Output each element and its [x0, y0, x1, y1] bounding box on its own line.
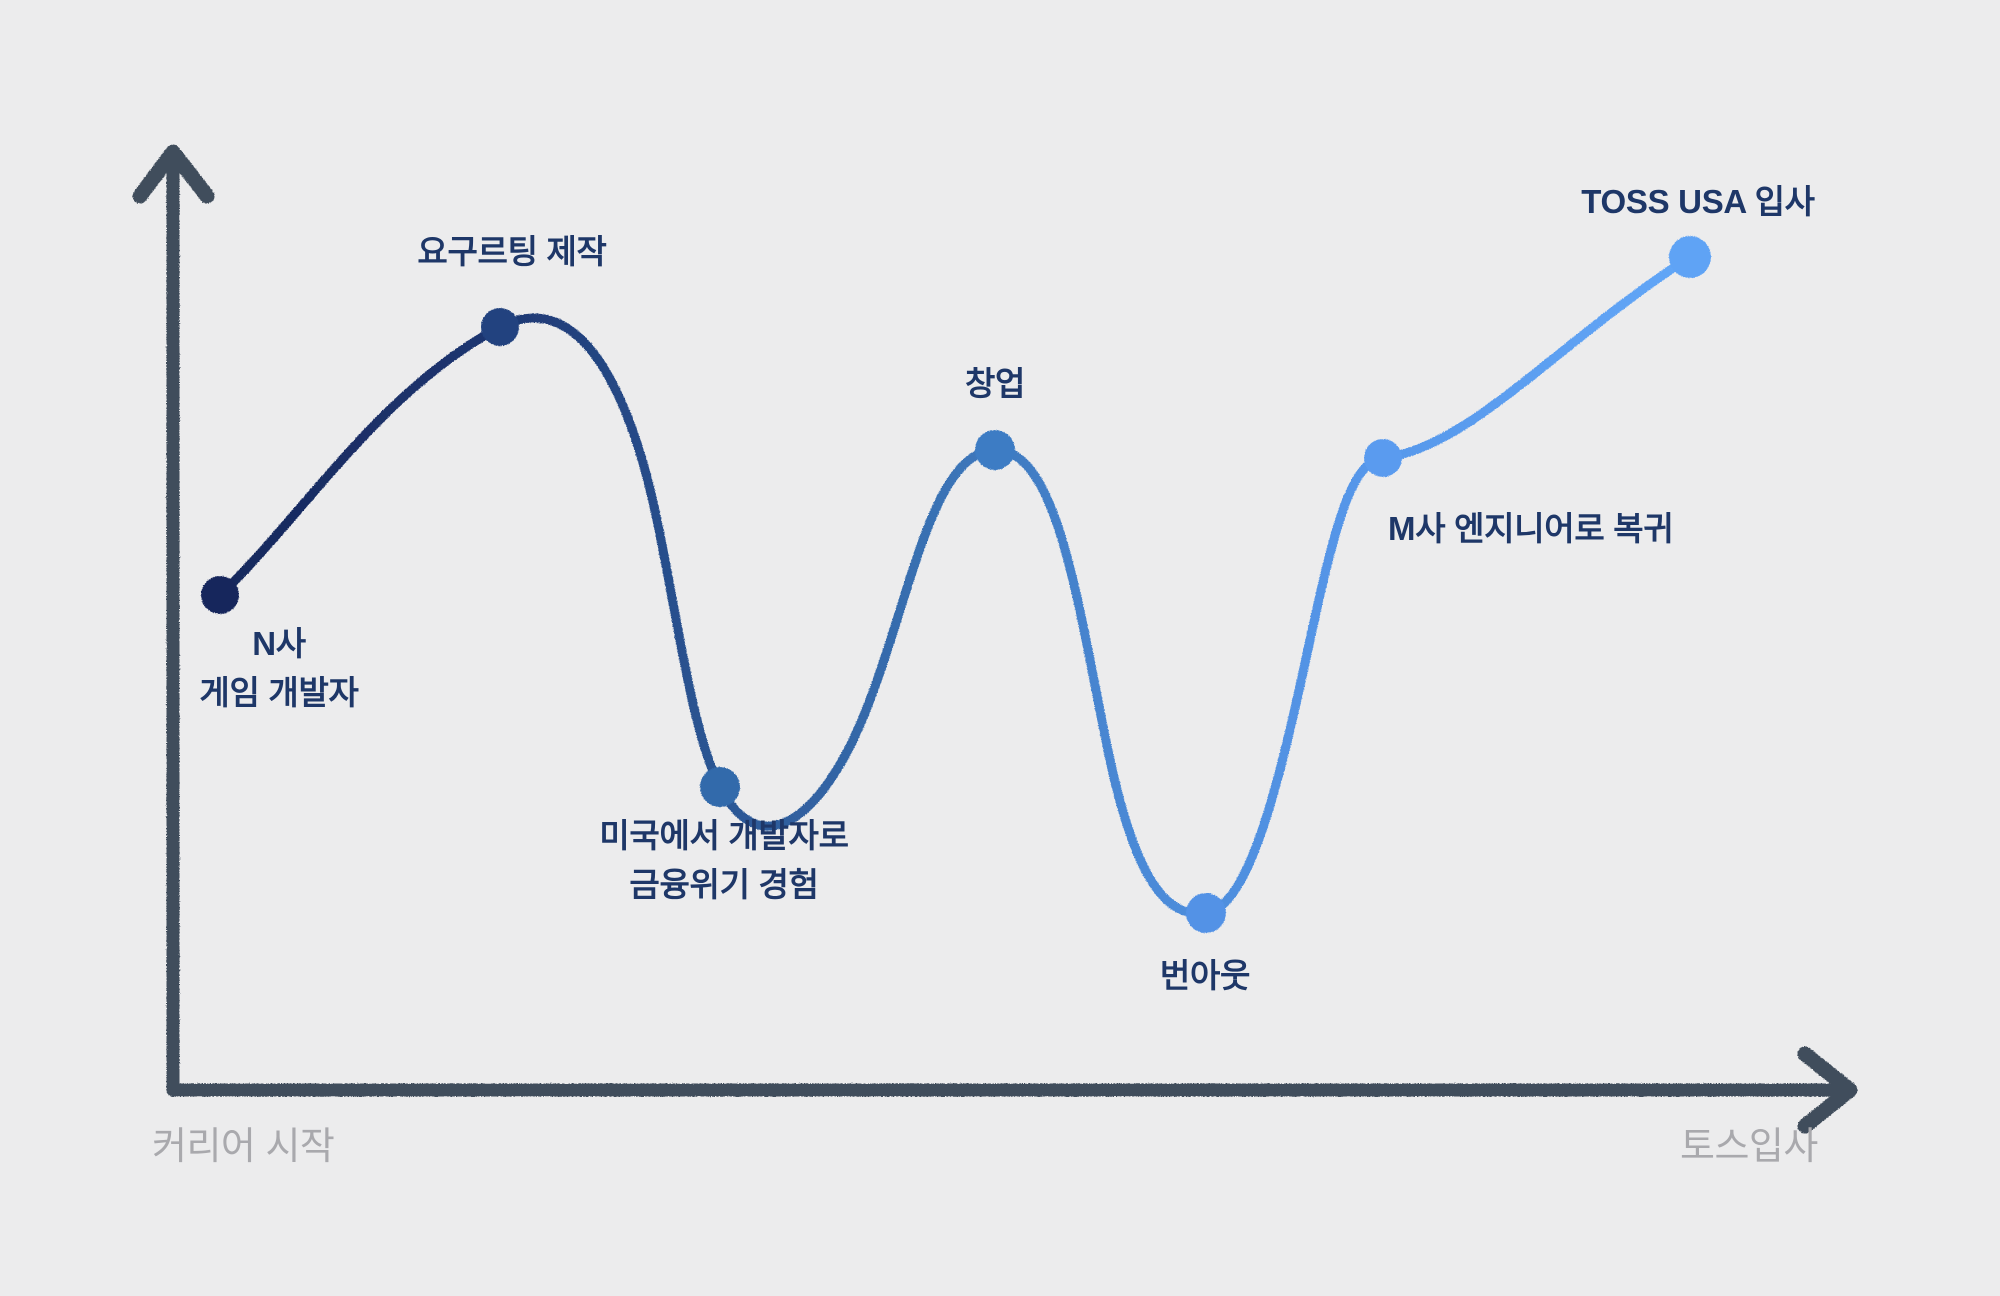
milestone-dot-5[interactable]	[1186, 893, 1226, 933]
milestone-label-7-line-1: TOSS USA 입사	[1581, 178, 1814, 227]
milestone-label-4: 창업	[965, 360, 1025, 409]
milestone-label-5: 번아웃	[1160, 952, 1250, 1001]
milestone-label-1-line-2: 게임 개발자	[199, 669, 358, 718]
vertical-growth-axis	[140, 152, 207, 1090]
milestone-label-7: TOSS USA 입사	[1581, 178, 1814, 227]
milestone-dots	[201, 236, 1711, 933]
milestone-dot-1[interactable]	[201, 576, 239, 614]
milestone-dot-4[interactable]	[975, 430, 1015, 470]
milestone-label-6: M사 엔지니어로 복귀	[1388, 505, 1673, 554]
axis-start-label: 커리어 시작	[152, 1115, 334, 1170]
milestone-label-2-line-1: 요구르팅 제작	[417, 228, 606, 277]
career-timeline-axis	[173, 1054, 1850, 1126]
career-curve	[220, 257, 1690, 914]
milestone-label-1: N사 게임 개발자	[199, 620, 358, 718]
milestone-dot-2[interactable]	[481, 308, 519, 346]
milestone-dot-3[interactable]	[700, 767, 740, 807]
milestone-label-5-line-1: 번아웃	[1160, 952, 1250, 1001]
milestone-label-3-line-1: 미국에서 개발자로	[599, 812, 848, 861]
milestone-label-4-line-1: 창업	[965, 360, 1025, 409]
milestone-label-2: 요구르팅 제작	[417, 228, 606, 277]
milestone-label-1-line-1: N사	[199, 620, 358, 669]
milestone-label-6-line-1: M사 엔지니어로 복귀	[1388, 505, 1673, 554]
milestone-dot-6[interactable]	[1364, 439, 1402, 477]
milestone-label-3: 미국에서 개발자로 금융위기 경험	[599, 812, 848, 910]
axis-end-label: 토스입사	[1680, 1115, 1818, 1170]
milestone-dot-7[interactable]	[1669, 236, 1711, 278]
milestone-label-3-line-2: 금융위기 경험	[599, 861, 848, 910]
career-journey-chart: N사 게임 개발자 요구르팅 제작 미국에서 개발자로 금융위기 경험 창업 번…	[0, 0, 2000, 1296]
